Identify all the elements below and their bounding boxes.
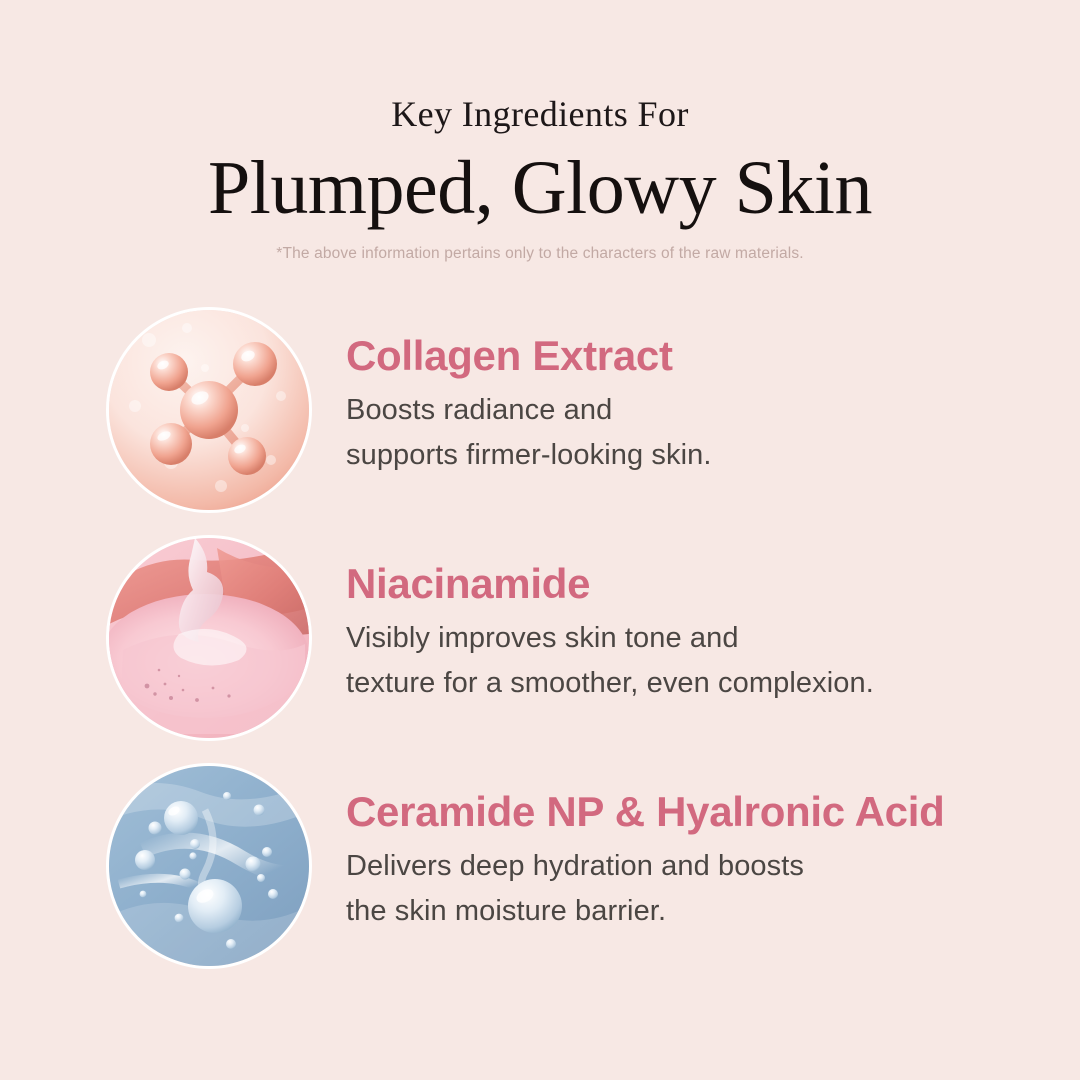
disclaimer-text: *The above information pertains only to … xyxy=(0,244,1080,264)
description-line: Boosts radiance and xyxy=(346,388,1006,433)
description-line: Delivers deep hydration and boosts xyxy=(346,844,1006,889)
ingredient-copy: Niacinamide Visibly improves skin tone a… xyxy=(346,559,1006,706)
page-title: Plumped, Glowy Skin xyxy=(0,146,1080,230)
ingredients-infographic: Key Ingredients For Plumped, Glowy Skin … xyxy=(0,0,1080,1080)
description-line: texture for a smoother, even complexion. xyxy=(346,661,1006,706)
ingredient-copy: Collagen Extract Boosts radiance and sup… xyxy=(346,331,1006,478)
ingredient-thumbnail-collagen xyxy=(106,307,312,513)
description-line: Visibly improves skin tone and xyxy=(346,616,1006,661)
ingredient-title: Ceramide NP & Hyalronic Acid xyxy=(346,787,1006,837)
header: Key Ingredients For Plumped, Glowy Skin … xyxy=(0,0,1080,264)
ingredient-list: Collagen Extract Boosts radiance and sup… xyxy=(0,307,1080,991)
pink-collagen-molecule-icon xyxy=(109,310,309,510)
description-line: supports firmer-looking skin. xyxy=(346,433,1006,478)
list-item: Collagen Extract Boosts radiance and sup… xyxy=(0,307,1080,535)
ingredient-copy: Ceramide NP & Hyalronic Acid Delivers de… xyxy=(346,787,1006,934)
thumbnail-circle xyxy=(106,535,312,741)
list-item: Ceramide NP & Hyalronic Acid Delivers de… xyxy=(0,763,1080,991)
description-line: the skin moisture barrier. xyxy=(346,889,1006,934)
ingredient-thumbnail-niacinamide xyxy=(106,535,312,741)
ingredient-description: Delivers deep hydration and boosts the s… xyxy=(346,844,1006,934)
eyebrow-text: Key Ingredients For xyxy=(0,92,1080,136)
ingredient-title: Niacinamide xyxy=(346,559,1006,609)
thumbnail-circle xyxy=(106,307,312,513)
blue-water-droplets-icon xyxy=(109,766,309,966)
ingredient-thumbnail-ceramide xyxy=(106,763,312,969)
thumbnail-circle xyxy=(106,763,312,969)
list-item: Niacinamide Visibly improves skin tone a… xyxy=(0,535,1080,763)
ingredient-description: Boosts radiance and supports firmer-look… xyxy=(346,388,1006,478)
ingredient-description: Visibly improves skin tone and texture f… xyxy=(346,616,1006,706)
pink-serum-pour-icon xyxy=(109,538,309,738)
ingredient-title: Collagen Extract xyxy=(346,331,1006,381)
